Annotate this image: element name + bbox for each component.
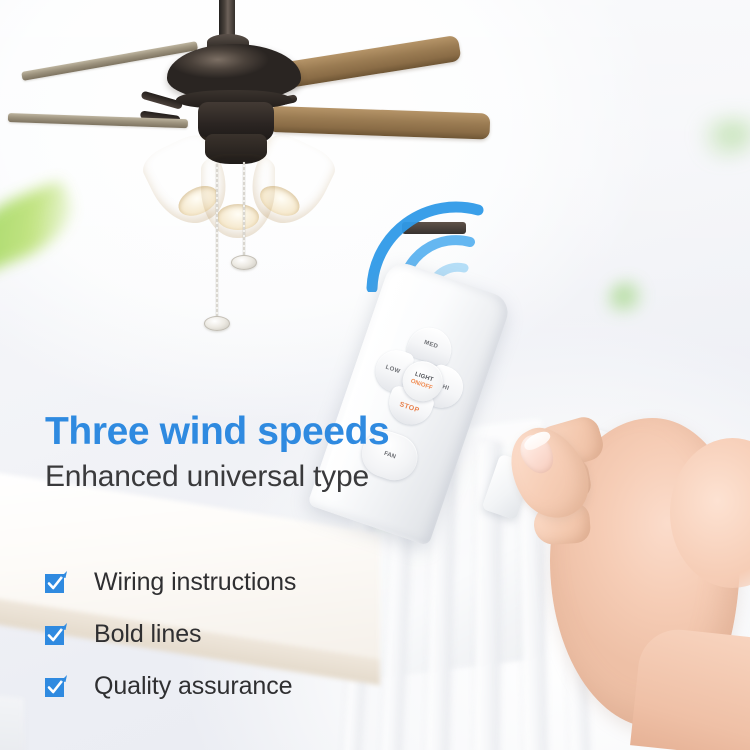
hand-holding-remote [498,400,750,750]
shade-opening [217,204,259,230]
button-med-label: MED [423,340,439,350]
feature-list: Wiring instructions Bold lines Quality [44,556,464,712]
checkbox-checked-icon [44,674,69,699]
checkbox-checked-icon [44,570,69,595]
pull-chain-knob-light[interactable] [231,255,257,270]
copy-block: Three wind speeds Enhanced universal typ… [45,412,475,494]
feature-item: Bold lines [44,608,464,660]
checkbox-checked-icon [44,622,69,647]
fan-blade-right-lower [272,106,491,140]
fan-light-shade-center [201,154,275,238]
feature-item: Wiring instructions [44,556,464,608]
subheadline: Enhanced universal type [45,460,475,494]
pull-chain-fan[interactable] [216,164,218,319]
pull-chain-knob-fan[interactable] [204,316,230,331]
button-low-label: LOW [385,365,401,376]
button-hi-label: HI [442,384,450,392]
table-leg [0,694,24,750]
feature-label: Quality assurance [94,672,292,701]
pull-chain-light[interactable] [243,162,245,258]
feature-label: Wiring instructions [94,568,296,597]
knuckles [670,438,750,588]
feature-label: Bold lines [94,620,201,649]
product-banner: MED HI LOW STOP LIGHT ON/OFF FAN [0,0,750,750]
wrist [630,626,750,750]
headline: Three wind speeds [45,412,475,453]
feature-item: Quality assurance [44,660,464,712]
